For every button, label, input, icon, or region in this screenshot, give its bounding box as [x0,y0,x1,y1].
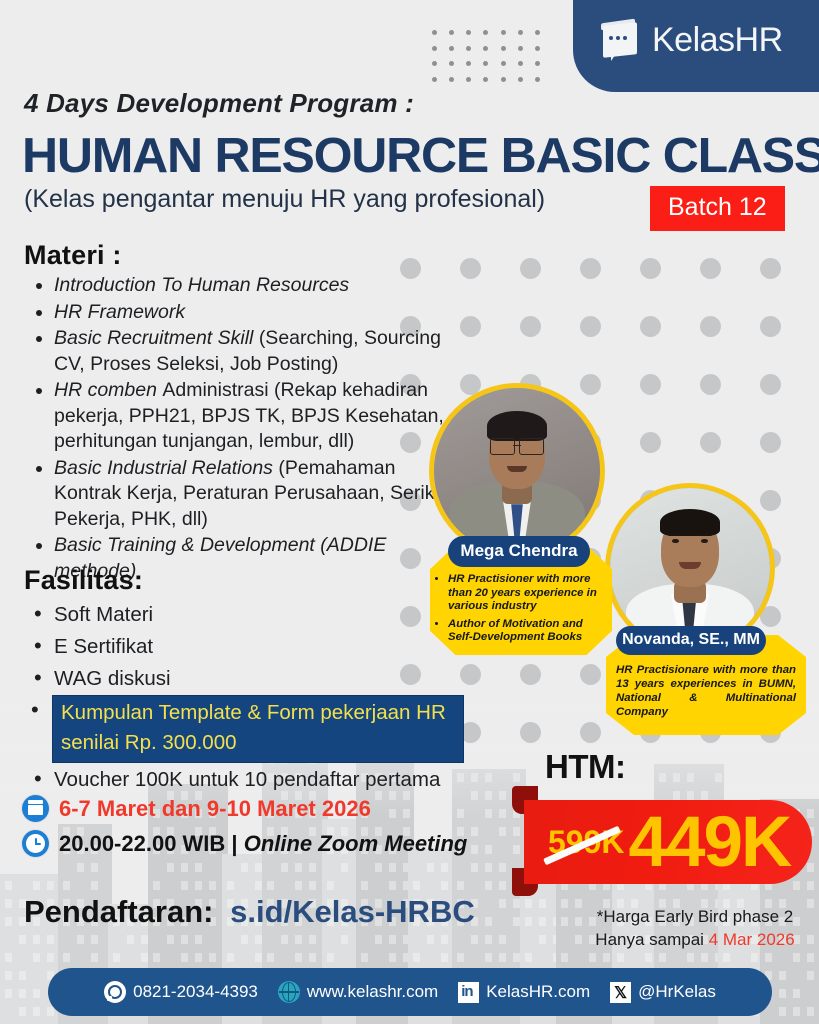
dot [760,258,781,279]
dot [640,316,661,337]
eyeglasses-icon [490,438,543,453]
fasilitas-item: Kumpulan Template & Form pekerjaan HR se… [52,695,464,763]
dot [483,30,488,35]
calendar-icon [22,795,49,822]
footer-linkedin[interactable]: in KelasHR.com [458,982,590,1003]
materi-item: Basic Recruitment Skill (Searching, Sour… [54,326,464,377]
dot [580,664,601,685]
whatsapp-icon [104,981,126,1003]
dot [432,46,437,51]
price-note-line2: Hanya sampai 4 Mar 2026 [570,928,819,951]
speaker-bio-item: HR Practisioner with more than 20 years … [448,573,604,614]
dot [640,374,661,395]
dot [520,258,541,279]
speaker-name-mega-chendra: Mega Chendra [448,536,590,567]
dot [483,77,488,82]
footer-x[interactable]: 𝕏 @HrKelas [610,982,716,1003]
linkedin-icon: in [458,982,479,1003]
dot [700,316,721,337]
book-chat-icon [599,18,643,62]
materi-item: HR Framework [54,300,464,326]
fasilitas-list: Soft MateriE SertifikatWAG diskusiKumpul… [24,599,464,795]
dot [640,258,661,279]
brand-name: KelasHR [652,21,783,60]
program-kicker: 4 Days Development Program : [24,88,414,119]
website-url: www.kelashr.com [307,982,438,1002]
dot [466,61,471,66]
speaker-card-novanda: HR Practisionare with more than 13 years… [610,488,770,648]
price-ribbon: 599K 449K [512,786,812,896]
dot [449,46,454,51]
dot [700,258,721,279]
dot [535,77,540,82]
speaker-card-mega-chendra: HR Practisioner with more than 20 years … [434,388,600,554]
price-original: 599K [548,824,625,861]
portrait-mega-chendra [434,388,600,554]
dot [483,46,488,51]
dot [432,61,437,66]
ribbon-body: 599K 449K [524,800,812,884]
dot [520,664,541,685]
dot [518,61,523,66]
dot [501,46,506,51]
materi-item: Basic Industrial Relations (Pemahaman Ko… [54,456,464,533]
dot [466,77,471,82]
contact-footer-bar: 0821-2034-4393 www.kelashr.com in KelasH… [48,968,772,1016]
dot [518,30,523,35]
schedule-section: 6-7 Maret dan 9-10 Maret 2026 20.00-22.0… [22,795,467,865]
dot [580,258,601,279]
dot [449,30,454,35]
x-handle: @HrKelas [638,982,716,1002]
page-subtitle: (Kelas pengantar menuju HR yang profesio… [24,185,545,214]
price-note-line1: *Harga Early Bird phase 2 [570,905,819,928]
dot [640,432,661,453]
dot [535,46,540,51]
schedule-time: 20.00-22.00 WIB | Online Zoom Meeting [59,831,467,857]
dot [501,30,506,35]
materi-heading: Materi : [24,240,464,271]
dot [518,46,523,51]
price-note: *Harga Early Bird phase 2 Hanya sampai 4… [570,905,819,951]
speaker-bio-item: Author of Motivation and Self-Developmen… [448,618,604,645]
speaker-bio-list: HR Practisioner with more than 20 years … [434,573,604,645]
dot [466,30,471,35]
dot [760,432,781,453]
footer-website[interactable]: www.kelashr.com [278,981,438,1003]
dot [432,30,437,35]
fasilitas-section: Fasilitas: Soft MateriE SertifikatWAG di… [24,565,464,796]
speaker-bio-text: HR Practisionare with more than 13 years… [616,663,796,719]
dot [466,46,471,51]
dot [483,61,488,66]
registration-label: Pendaftaran: [24,894,213,929]
portrait-novanda [610,488,770,648]
decorative-dot-grid [432,30,552,92]
dot [760,316,781,337]
materi-item: HR comben Administrasi (Rekap kehadiran … [54,378,464,455]
dot [760,374,781,395]
fasilitas-item: WAG diskusi [54,663,464,694]
registration-row: Pendaftaran: s.id/Kelas-HRBC [24,894,475,930]
whatsapp-number: 0821-2034-4393 [133,982,258,1002]
dot [700,432,721,453]
materi-list: Introduction To Human ResourcesHR Framew… [24,273,464,584]
globe-icon [278,981,300,1003]
price-label: HTM: [545,748,625,786]
dot [518,77,523,82]
fasilitas-item: Voucher 100K untuk 10 pendaftar pertama [54,764,464,795]
dot [535,61,540,66]
dot [501,77,506,82]
speaker-name-novanda: Novanda, SE., MM [616,626,766,655]
fasilitas-item: Soft Materi [54,599,464,630]
schedule-date-row: 6-7 Maret dan 9-10 Maret 2026 [22,795,467,822]
dot [700,374,721,395]
dot [535,30,540,35]
footer-whatsapp[interactable]: 0821-2034-4393 [104,981,258,1003]
schedule-time-row: 20.00-22.00 WIB | Online Zoom Meeting [22,830,467,857]
batch-badge: Batch 12 [650,186,785,231]
schedule-date: 6-7 Maret dan 9-10 Maret 2026 [59,796,371,822]
dot [580,722,601,743]
registration-link[interactable]: s.id/Kelas-HRBC [230,894,475,929]
dot [520,722,541,743]
materi-section: Materi : Introduction To Human Resources… [24,240,464,585]
clock-icon [22,830,49,857]
poster-root: KelasHR 4 Days Development Program : HUM… [0,0,819,1024]
dot [580,316,601,337]
dot [449,61,454,66]
fasilitas-item: E Sertifikat [54,631,464,662]
dot [501,61,506,66]
dot [432,77,437,82]
materi-item: Introduction To Human Resources [54,273,464,299]
dot [449,77,454,82]
fasilitas-heading: Fasilitas: [24,565,464,596]
dot [520,316,541,337]
linkedin-handle: KelasHR.com [486,982,590,1002]
price-discounted: 449K [629,807,791,878]
page-title: HUMAN RESOURCE BASIC CLASS [22,128,819,184]
x-twitter-icon: 𝕏 [610,982,631,1003]
brand-logo-panel: KelasHR [573,0,819,92]
